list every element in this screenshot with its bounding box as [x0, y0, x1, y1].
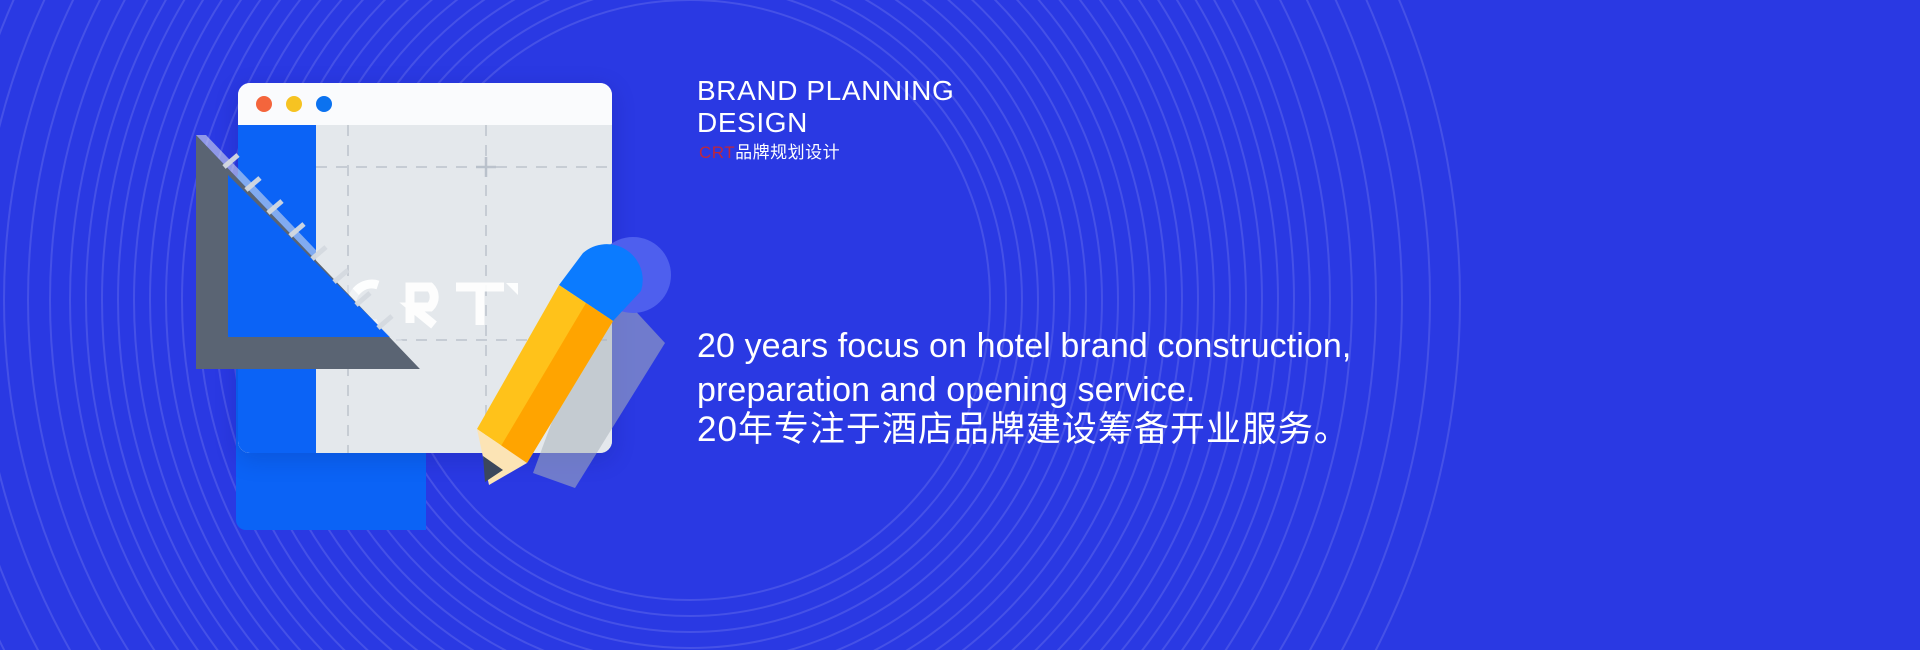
text-column: BRAND PLANNING DESIGN CRT品牌规划设计 20 years…	[697, 0, 1797, 650]
pencil-icon	[455, 223, 705, 513]
minimize-dot	[286, 96, 302, 112]
brand-banner: BRAND PLANNING DESIGN CRT品牌规划设计 20 years…	[0, 0, 1920, 650]
triangle-ruler-icon	[188, 127, 428, 377]
maximize-dot	[316, 96, 332, 112]
hero-illustration	[230, 75, 700, 555]
eyebrow-subtitle-cn: 品牌规划设计	[735, 143, 840, 162]
headline-chinese: 20年专注于酒店品牌建设筹备开业服务。	[697, 408, 1350, 453]
close-dot	[256, 96, 272, 112]
window-title-bar	[238, 83, 612, 125]
headline-english: 20 years focus on hotel brand constructi…	[697, 325, 1397, 412]
brand-name: CRT	[699, 143, 735, 162]
window-controls	[256, 96, 332, 112]
eyebrow-subtitle: CRT品牌规划设计	[699, 138, 840, 163]
eyebrow-title: BRAND PLANNING DESIGN	[697, 75, 954, 139]
